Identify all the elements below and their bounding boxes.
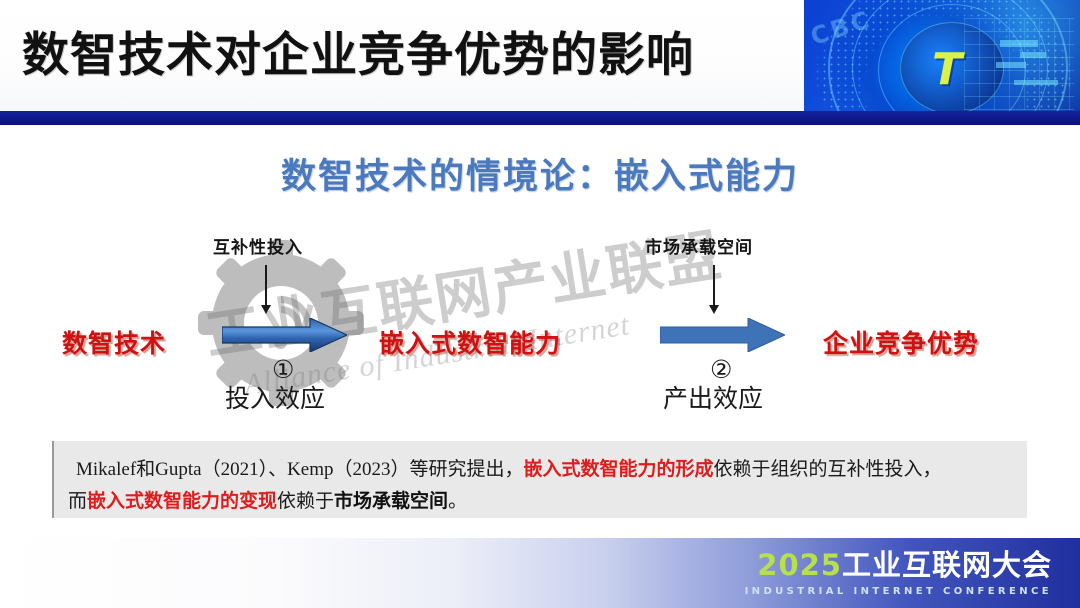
header-circuit-bar <box>996 62 1026 68</box>
note-line-2: 而嵌入式数智能力的变现依赖于市场承载空间。 <box>68 486 1011 518</box>
slide-header: CBC T 数智技术对企业竞争优势的影响 <box>0 0 1080 125</box>
node-competitive-advantage: 企业竞争优势 <box>823 324 979 360</box>
header-decorative-graphic: CBC T <box>804 0 1080 125</box>
header-t-logo-icon: T <box>932 48 962 92</box>
header-circuit-bar <box>1000 40 1038 47</box>
condition-label-2: 市场承载空间 <box>645 233 753 258</box>
note-seg: Mikalef和Gupta（2021）、Kemp（2023）等研究提出， <box>76 459 524 480</box>
note-seg-highlight: 嵌入式数智能力的变现 <box>87 491 277 512</box>
flow-arrow-2-icon <box>660 318 785 352</box>
note-seg: 依赖于 <box>277 491 334 512</box>
citation-note-box: Mikalef和Gupta（2021）、Kemp（2023）等研究提出，嵌入式数… <box>52 441 1027 518</box>
concept-flow-diagram: 互补性投入 市场承载空间 数智技术 嵌入式数智能力 企业竞争优势 ① ② 投入效… <box>0 225 1080 415</box>
condition-label-1: 互补性投入 <box>213 233 303 258</box>
conference-logo-english: INDUSTRIAL INTERNET CONFERENCE <box>745 586 1052 597</box>
note-seg: 而 <box>68 491 87 512</box>
effect-label-1: 投入效应 <box>225 379 325 415</box>
header-circuit-bar <box>1020 52 1046 58</box>
conference-logo-year: 2025 <box>757 548 842 582</box>
down-arrow-2-icon <box>713 265 715 307</box>
note-seg-highlight: 嵌入式数智能力的形成 <box>524 459 714 480</box>
node-digital-technology: 数智技术 <box>62 324 166 360</box>
conference-logo-main: 2025工业互联网大会 <box>745 551 1052 580</box>
node-embedded-capability: 嵌入式数智能力 <box>379 324 561 360</box>
note-seg-bold: 市场承载空间 <box>334 491 448 512</box>
down-arrow-1-icon <box>265 265 267 307</box>
section-subtitle: 数智技术的情境论：嵌入式能力 <box>0 148 1080 199</box>
slide-footer: 2025工业互联网大会 INDUSTRIAL INTERNET CONFEREN… <box>0 538 1080 608</box>
note-seg: 依赖于组织的互补性投入， <box>714 459 942 480</box>
note-seg: 。 <box>448 491 467 512</box>
page-title: 数智技术对企业竞争优势的影响 <box>22 16 694 85</box>
header-circuit-bar <box>1014 80 1058 85</box>
conference-logo: 2025工业互联网大会 INDUSTRIAL INTERNET CONFEREN… <box>745 551 1052 597</box>
effect-label-2: 产出效应 <box>663 379 763 415</box>
flow-arrow-1-icon <box>222 318 347 352</box>
conference-logo-chinese: 工业互联网大会 <box>842 548 1052 582</box>
header-divider-bar <box>0 111 1080 125</box>
note-line-1: Mikalef和Gupta（2021）、Kemp（2023）等研究提出，嵌入式数… <box>76 454 1011 486</box>
